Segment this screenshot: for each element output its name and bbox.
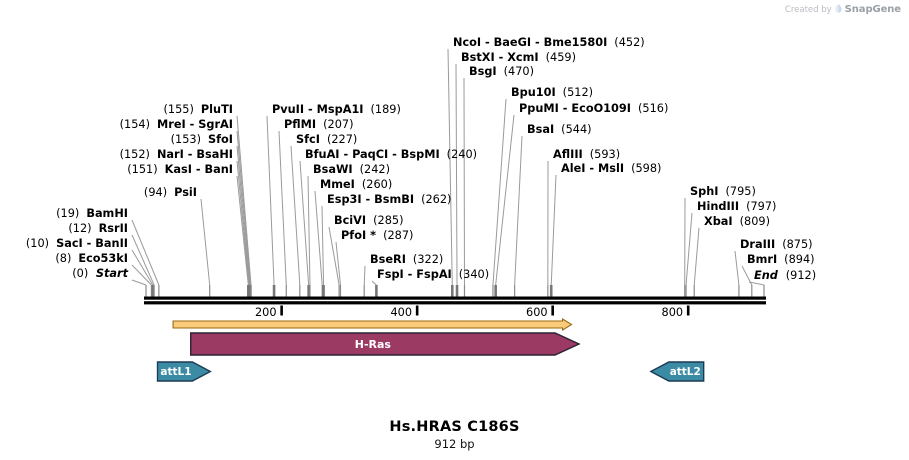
site-position: (598) (631, 162, 661, 175)
site-leader-line (551, 175, 556, 285)
site-leader-line (132, 265, 151, 285)
restriction-site-FspI: FspI - FspAI(340) (377, 268, 489, 281)
restriction-site-PvuII: PvuII - MspA1I(189) (272, 103, 401, 116)
site-position: (470) (504, 65, 534, 78)
restriction-site-BseRI: BseRI(322) (370, 253, 443, 266)
site-position: (593) (590, 148, 620, 161)
site-position: (8) (55, 252, 71, 265)
site-leader-line (456, 64, 457, 285)
site-enzyme-name: PvuII - MspA1I (272, 103, 364, 116)
site-position: (240) (447, 148, 477, 161)
restriction-site-BstXI: BstXI - XcmI(459) (461, 51, 576, 64)
map-canvas: 200400600800 H-RasattL1attL2 Start(0)Eco… (0, 0, 909, 410)
feature-label: attL2 (670, 366, 701, 378)
restriction-site-KasI: KasI - BanI(151) (127, 163, 233, 176)
restriction-site-BamHI: BamHI(19) (56, 207, 128, 220)
watermark-prefix: Created by (785, 5, 832, 15)
orf-arrow-shape[interactable] (173, 319, 571, 330)
site-enzyme-name: AleI - MslI (561, 162, 624, 175)
site-position: (516) (638, 102, 668, 115)
restriction-site-SphI: SphI(795) (690, 185, 756, 198)
feature-H-Ras[interactable]: H-Ras (191, 333, 579, 355)
site-leader-line (315, 191, 322, 285)
restriction-site-BsaI: BsaI(544) (527, 123, 592, 136)
site-leader-line (694, 228, 699, 285)
restriction-site-PpuMI: PpuMI - EcoO109I(516) (519, 102, 668, 115)
ruler-label: 400 (390, 306, 412, 319)
site-leader-line (291, 146, 300, 285)
restriction-site-MmeI: MmeI(260) (320, 178, 392, 191)
site-leader-line (267, 116, 274, 285)
site-enzyme-name: SacI - BanII (56, 237, 128, 250)
restriction-site-MreI: MreI - SgrAI(154) (120, 118, 233, 131)
site-enzyme-name: HindIII (697, 200, 739, 213)
site-leader-line (735, 251, 739, 285)
site-enzyme-name: NarI - BsaHI (157, 148, 233, 161)
site-position: (12) (68, 222, 91, 235)
site-leader-line (132, 220, 159, 285)
site-enzyme-name: BsaI (527, 123, 554, 136)
restriction-site-BciVI: BciVI(285) (334, 214, 404, 227)
site-enzyme-name: BseRI (370, 253, 406, 266)
feature-label: H-Ras (355, 338, 392, 351)
restriction-site-DraIII: DraIII(875) (740, 238, 813, 251)
site-enzyme-name: NcoI - BaeGI - Bme1580I (453, 36, 607, 49)
site-enzyme-name: SphI (690, 185, 718, 198)
site-position: (151) (127, 163, 157, 176)
site-enzyme-name: KasI - BanI (165, 163, 233, 176)
backbone-lower-strand (144, 301, 766, 304)
site-position: (322) (413, 253, 443, 266)
site-position: (207) (323, 118, 353, 131)
site-enzyme-name: RsrII (99, 222, 128, 235)
site-leader-line (308, 176, 310, 285)
restriction-site-BsaWI: BsaWI(242) (313, 163, 390, 176)
site-enzyme-name: PluTI (201, 103, 233, 116)
restriction-site-AleI: AleI - MslI(598) (561, 162, 661, 175)
page-title: Hs.HRAS C186S (0, 419, 909, 435)
restriction-site-Esp3I: Esp3I - BsmBI(262) (327, 193, 451, 206)
site-leader-line (493, 99, 506, 285)
ruler-tick (687, 306, 690, 316)
site-leader-line (201, 199, 210, 285)
orf-arrow[interactable] (173, 319, 571, 330)
site-position: (544) (561, 123, 591, 136)
site-enzyme-name: Esp3I - BsmBI (327, 193, 414, 206)
site-position: (94) (144, 186, 167, 199)
site-position: (19) (56, 207, 79, 220)
site-leader-line (279, 131, 286, 285)
restriction-site-AflIII: AflIII(593) (553, 148, 620, 161)
site-leader-line (515, 136, 522, 285)
ruler: 200400600800 (255, 306, 690, 320)
ruler-tick (551, 306, 554, 316)
site-leader-line (496, 115, 514, 285)
site-position: (340) (459, 268, 489, 281)
sequence-length: 912 bp (0, 437, 909, 451)
restriction-site-PluTI: PluTI(155) (164, 103, 234, 116)
site-position: (512) (563, 86, 593, 99)
ruler-label: 800 (662, 306, 684, 319)
site-enzyme-name: DraIII (740, 238, 775, 251)
sequence-map: Created by SnapGene 200400600800 H-Rasat… (0, 0, 909, 460)
restriction-site-End: End(912) (754, 269, 816, 282)
site-leader-line (237, 161, 249, 285)
restriction-site-SfcI: SfcI(227) (296, 133, 357, 146)
ruler-tick (280, 306, 283, 316)
site-position: (809) (740, 215, 770, 228)
site-position: (875) (782, 238, 812, 251)
site-enzyme-name: PfoI * (341, 229, 376, 242)
site-position: (287) (383, 229, 413, 242)
site-ticks (146, 285, 764, 297)
site-position: (189) (371, 103, 401, 116)
ruler-tick (416, 306, 419, 316)
site-leader-line (448, 49, 452, 285)
site-position: (10) (26, 237, 49, 250)
restriction-site-Start: Start(0) (72, 267, 128, 280)
site-enzyme-name: BfuAI - PaqCI - BspMI (305, 148, 440, 161)
restriction-site-RsrII: RsrII(12) (68, 222, 128, 235)
restriction-site-PflMI: PflMI(207) (284, 118, 354, 131)
restriction-site-SacI: SacI - BanII(10) (26, 237, 128, 250)
sequence-backbone (144, 297, 766, 305)
restriction-site-BsgI: BsgI(470) (469, 65, 534, 78)
restriction-site-NcoI: NcoI - BaeGI - Bme1580I(452) (453, 36, 645, 49)
site-position: (152) (120, 148, 150, 161)
site-enzyme-name: MmeI (320, 178, 355, 191)
site-enzyme-name: Eco53kI (78, 252, 128, 265)
site-position: (154) (120, 118, 150, 131)
site-enzyme-name: BciVI (334, 214, 366, 227)
site-enzyme-name: PpuMI - EcoO109I (519, 102, 631, 115)
site-position: (452) (614, 36, 644, 49)
site-leader-line (132, 280, 146, 285)
site-leader-line (300, 161, 309, 285)
site-leader-line (237, 131, 250, 285)
site-leader-line (132, 235, 154, 285)
site-leader-line (364, 266, 365, 285)
site-position: (795) (725, 185, 755, 198)
site-enzyme-name: BsaWI (313, 163, 353, 176)
restriction-site-HindIII: HindIII(797) (697, 200, 776, 213)
site-leader-line (322, 206, 324, 285)
restriction-site-PsiI: PsiI(94) (144, 186, 197, 199)
site-enzyme-name: PflMI (284, 118, 316, 131)
snapgene-watermark: Created by SnapGene (785, 4, 901, 15)
restriction-site-Eco53kI: Eco53kI(8) (55, 252, 128, 265)
snapgene-logo-icon (835, 4, 842, 15)
site-position: (227) (327, 133, 357, 146)
site-leader-line (372, 281, 376, 285)
site-position: (459) (546, 51, 576, 64)
site-position: (894) (784, 253, 814, 266)
site-enzyme-name: BamHI (86, 207, 128, 220)
restriction-site-NarI: NarI - BsaHI(152) (120, 148, 233, 161)
site-position: (155) (164, 103, 194, 116)
feature-label: attL1 (160, 366, 191, 378)
site-enzyme-name: PsiI (174, 186, 197, 199)
site-leader-line (237, 146, 250, 285)
site-enzyme-name: XbaI (704, 215, 733, 228)
restriction-site-PfoI: PfoI *(287) (341, 229, 413, 242)
restriction-site-BfuAI: BfuAI - PaqCI - BspMI(240) (305, 148, 477, 161)
site-enzyme-name: SfoI (208, 133, 233, 146)
features[interactable]: H-RasattL1attL2 (158, 333, 704, 381)
site-enzyme-name: Start (96, 267, 129, 280)
watermark-brand: SnapGene (845, 4, 901, 15)
site-position: (153) (171, 133, 201, 146)
site-position: (285) (373, 214, 403, 227)
ruler-label: 600 (526, 306, 548, 319)
site-position: (797) (746, 200, 776, 213)
site-position: (260) (362, 178, 392, 191)
restriction-site-BmrI: BmrI(894) (747, 253, 815, 266)
site-position: (0) (72, 267, 88, 280)
restriction-site-XbaI: XbaI(809) (704, 215, 770, 228)
site-position: (912) (786, 269, 816, 282)
site-position: (262) (421, 193, 451, 206)
site-enzyme-name: FspI - FspAI (377, 268, 452, 281)
site-enzyme-name: BstXI - XcmI (461, 51, 539, 64)
site-enzyme-name: AflIII (553, 148, 583, 161)
site-enzyme-name: Bpu10I (511, 86, 556, 99)
site-position: (242) (360, 163, 390, 176)
site-enzyme-name: SfcI (296, 133, 320, 146)
feature-attL2[interactable]: attL2 (651, 362, 704, 381)
feature-attL1[interactable]: attL1 (158, 362, 211, 381)
site-enzyme-name: End (754, 269, 779, 282)
backbone-upper-strand (144, 297, 766, 300)
site-enzyme-name: BsgI (469, 65, 497, 78)
restriction-site-Bpu10I: Bpu10I(512) (511, 86, 593, 99)
site-enzyme-name: BmrI (747, 253, 777, 266)
restriction-site-SfoI: SfoI(153) (171, 133, 233, 146)
site-leader-line (686, 213, 692, 285)
ruler-label: 200 (255, 306, 277, 319)
site-enzyme-name: MreI - SgrAI (157, 118, 233, 131)
